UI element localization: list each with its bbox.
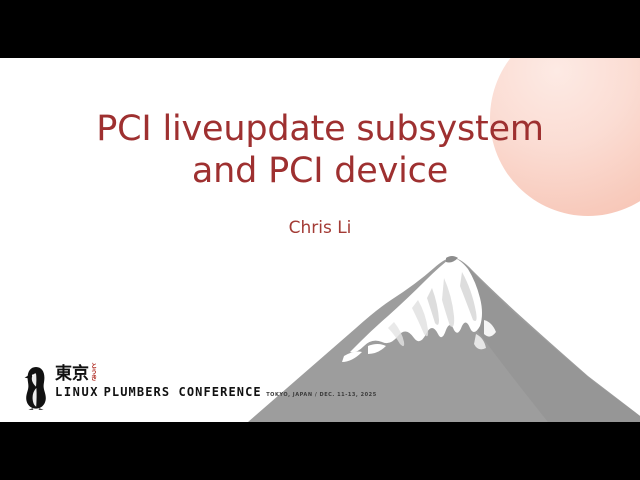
page-title: PCI liveupdate subsystem and PCI device bbox=[0, 108, 640, 192]
presenter-name: Chris Li bbox=[0, 218, 640, 238]
logo-plumbers-conference-text: PLUMBERS CONFERENCE bbox=[104, 385, 262, 399]
letterbox-bottom bbox=[0, 422, 640, 480]
title-line-1: PCI liveupdate subsystem bbox=[0, 108, 640, 150]
tokyo-kanji: 東京 bbox=[55, 366, 89, 383]
title-line-2: and PCI device bbox=[0, 150, 640, 192]
logo-wordmark: 東京 と う き LINUX PLUMBERS CONFERENCE TOKYO… bbox=[55, 364, 377, 401]
penguin-icon bbox=[24, 366, 48, 410]
slide-canvas: PCI liveupdate subsystem and PCI device … bbox=[0, 58, 640, 422]
tokyo-kana: と う き bbox=[91, 364, 97, 383]
title-block: PCI liveupdate subsystem and PCI device … bbox=[0, 108, 640, 238]
tokyo-kana-line-3: き bbox=[91, 376, 97, 382]
letterbox-top bbox=[0, 0, 640, 58]
conference-logo: 東京 と う き LINUX PLUMBERS CONFERENCE TOKYO… bbox=[24, 364, 377, 410]
logo-tagline: TOKYO, JAPAN / DEC. 11-13, 2025 bbox=[266, 392, 377, 398]
logo-linux-text: LINUX bbox=[55, 385, 99, 399]
tokyo-row: 東京 と う き bbox=[55, 364, 377, 383]
presentation-slide: PCI liveupdate subsystem and PCI device … bbox=[0, 0, 640, 480]
